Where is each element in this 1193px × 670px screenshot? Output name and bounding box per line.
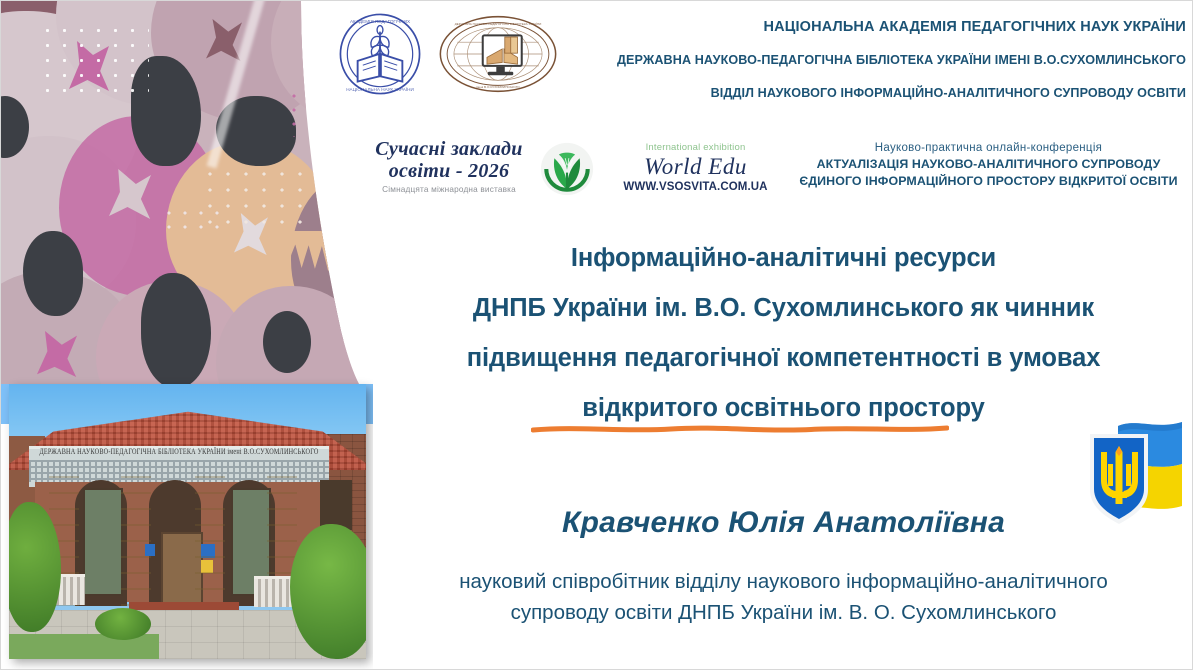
building-inscription: ДЕРЖАВНА НАУКОВО-ПЕДАГОГІЧНА БІБЛІОТЕКА … — [31, 447, 327, 456]
world-edu-logo: International exhibition World Edu WWW.V… — [613, 142, 778, 194]
suchasni-subtitle: Сімнадцята міжнародна виставка — [369, 185, 529, 194]
conference-title-line1: АКТУАЛІЗАЦІЯ НАУКОВО-АНАЛІТИЧНОГО СУПРОВ… — [791, 156, 1186, 173]
author-role-line1: науковий співробітник відділу наукового … — [396, 566, 1171, 597]
svg-text:АКАДЕМІЯ ПЕДАГОГІЧНИХ: АКАДЕМІЯ ПЕДАГОГІЧНИХ — [350, 19, 410, 24]
abstract-blob-artwork — [1, 1, 373, 397]
page-title: Інформаційно-аналітичні ресурси ДНПБ Укр… — [396, 233, 1171, 433]
title-line-1: Інформаційно-аналітичні ресурси — [396, 233, 1171, 283]
conference-title-block: Науково-практична онлайн-конференція АКТ… — [791, 141, 1186, 189]
title-line-3: підвищення педагогічної компетентності в… — [396, 333, 1171, 383]
suchasni-zaklady-logo: Сучасні заклади освіти - 2026 Сімнадцята… — [369, 139, 529, 194]
presentation-slide: ДЕРЖАВНА НАУКОВО-ПЕДАГОГІЧНА БІБЛІОТЕКА … — [0, 0, 1193, 670]
left-decorative-panel: ДЕРЖАВНА НАУКОВО-ПЕДАГОГІЧНА БІБЛІОТЕКА … — [1, 1, 373, 670]
naps-ukraine-seal-icon: АКАДЕМІЯ ПЕДАГОГІЧНИХ НАЦІОНАЛЬНА НАУК У… — [337, 11, 423, 97]
header-line-department: ВІДДІЛ НАУКОВОГО ІНФОРМАЦІЙНО-АНАЛІТИЧНО… — [561, 81, 1186, 105]
author-name: Кравченко Юлія Анатоліївна — [396, 506, 1171, 540]
conference-title-line2: ЄДИНОГО ІНФОРМАЦІЙНОГО ПРОСТОРУ ВІДКРИТО… — [791, 173, 1186, 190]
world-edu-url[interactable]: WWW.VSOSVITA.COM.UA — [613, 180, 778, 194]
svg-text:ДЕРЖАВНА НАУКОВО-ПЕДАГОГІЧНА Б: ДЕРЖАВНА НАУКОВО-ПЕДАГОГІЧНА БІБЛІОТЕКА … — [455, 22, 542, 26]
svg-text:імені В.О.СУХОМЛИНСЬКОГО: імені В.О.СУХОМЛИНСЬКОГО — [476, 85, 520, 89]
header-institution-lines: НАЦІОНАЛЬНА АКАДЕМІЯ ПЕДАГОГІЧНИХ НАУК У… — [561, 15, 1186, 105]
header-line-library: ДЕРЖАВНА НАУКОВО-ПЕДАГОГІЧНА БІБЛІОТЕКА … — [561, 48, 1186, 72]
world-edu-name: World Edu — [613, 154, 778, 180]
orange-brush-underline-icon — [531, 422, 949, 433]
suchasni-line2: освіти - 2026 — [369, 160, 529, 182]
dnpb-library-seal-icon: ДЕРЖАВНА НАУКОВО-ПЕДАГОГІЧНА БІБЛІОТЕКА … — [438, 15, 558, 93]
svg-text:НАЦІОНАЛЬНА НАУК УКРАЇНИ: НАЦІОНАЛЬНА НАУК УКРАЇНИ — [346, 86, 414, 92]
library-building-photo: ДЕРЖАВНА НАУКОВО-ПЕДАГОГІЧНА БІБЛІОТЕКА … — [9, 384, 366, 659]
conference-kicker: Науково-практична онлайн-конференція — [791, 141, 1186, 156]
suchasni-line1: Сучасні заклади — [369, 139, 529, 160]
world-edu-leaf-icon — [540, 142, 594, 196]
author-role: науковий співробітник відділу наукового … — [396, 566, 1171, 628]
header-line-academy: НАЦІОНАЛЬНА АКАДЕМІЯ ПЕДАГОГІЧНИХ НАУК У… — [561, 15, 1186, 39]
world-edu-kicker: International exhibition — [613, 142, 778, 154]
title-line-2: ДНПБ України ім. В.О. Сухомлинського як … — [396, 283, 1171, 333]
author-role-line2: супроводу освіти ДНПБ України ім. В. О. … — [396, 597, 1171, 628]
